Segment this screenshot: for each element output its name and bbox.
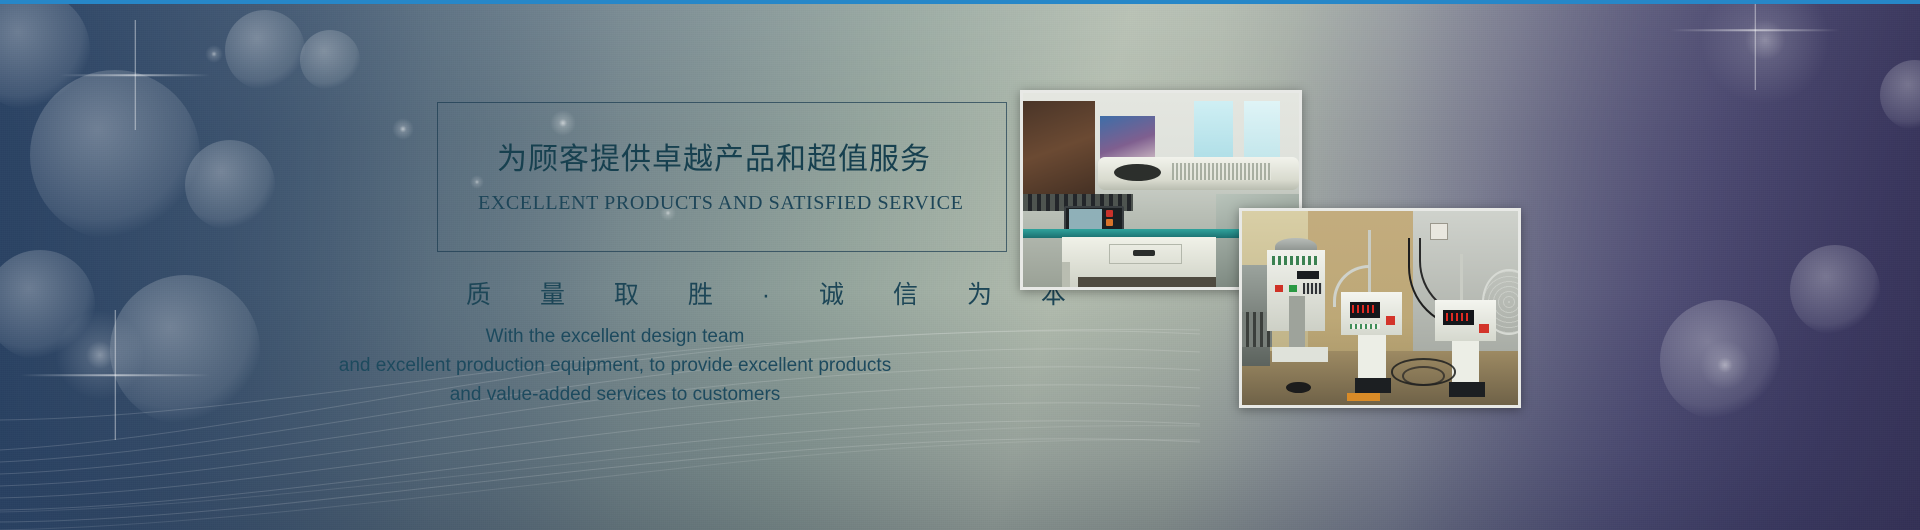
description-paragraph: With the excellent design team and excel…	[0, 322, 1230, 409]
photo-press-machines-image	[1242, 211, 1518, 405]
headline-chinese: 为顾客提供卓越产品和超值服务	[497, 134, 931, 178]
description-line-3: and value-added services to customers	[0, 380, 1230, 409]
texture-overlay	[0, 0, 1920, 530]
description-line-2: and excellent production equipment, to p…	[0, 351, 1230, 380]
description-line-1: With the excellent design team	[0, 322, 1230, 351]
slogan-chinese: 质 量 取 胜 · 诚 信 为 本	[466, 275, 1087, 311]
photo-press-machines	[1239, 208, 1521, 408]
top-accent-bar	[0, 0, 1920, 4]
promo-banner: 为顾客提供卓越产品和超值服务 EXCELLENT PRODUCTS AND SA…	[0, 0, 1920, 530]
headline-english: EXCELLENT PRODUCTS AND SATISFIED SERVICE	[478, 192, 963, 215]
